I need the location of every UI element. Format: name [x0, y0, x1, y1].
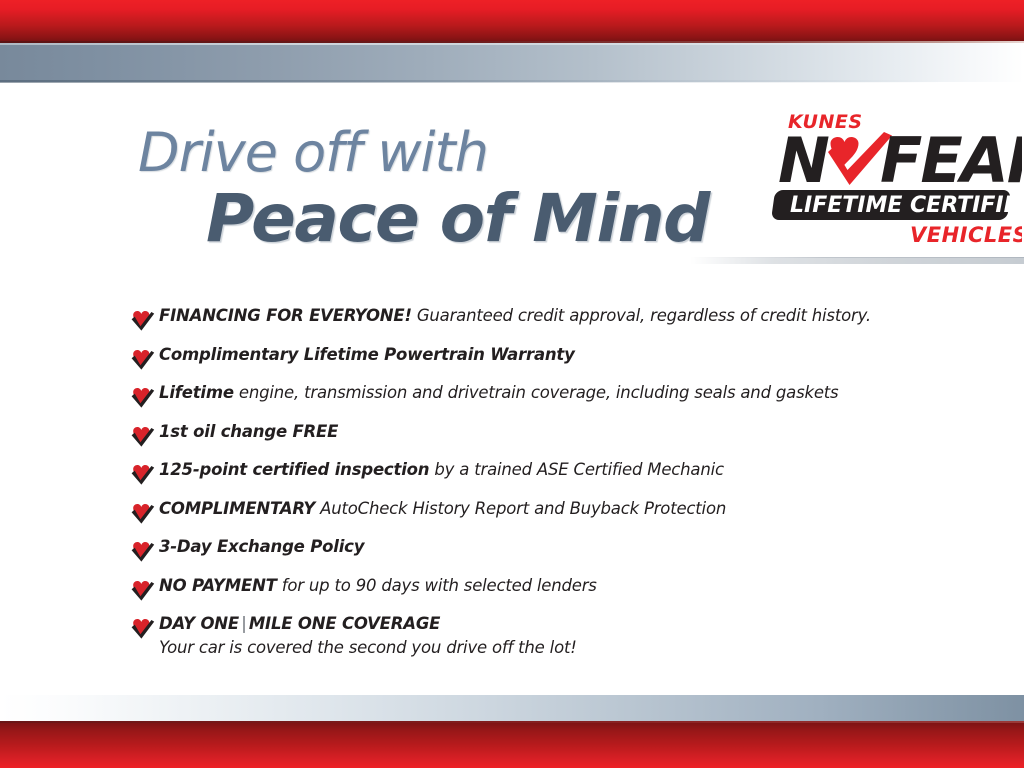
top-gray-band-shadow	[0, 80, 1024, 83]
list-item-text: 1st oil change FREE	[159, 422, 338, 441]
list-item-bold: Complimentary Lifetime Powertrain Warran…	[159, 345, 575, 364]
list-item: Lifetime engine, transmission and drivet…	[130, 383, 970, 408]
logo-letter-n: N	[778, 124, 829, 197]
list-item: FINANCING FOR EVERYONE! Guaranteed credi…	[130, 306, 970, 331]
list-item: Complimentary Lifetime Powertrain Warran…	[130, 345, 970, 370]
list-item-text: Complimentary Lifetime Powertrain Warran…	[159, 345, 575, 364]
list-item-group: DAY ONE|MILE ONE COVERAGE Your car is co…	[159, 614, 577, 659]
heart-check-icon	[130, 348, 155, 370]
list-item-subtext: Your car is covered the second you drive…	[159, 636, 577, 659]
heart-check-icon	[130, 617, 155, 639]
top-gray-band	[0, 43, 1024, 82]
logo-certified-text: LIFETIME CERTIFIED	[790, 193, 1022, 218]
list-item-text: 3-Day Exchange Policy	[159, 537, 364, 556]
heart-check-icon	[130, 425, 155, 447]
list-item-normal: for up to 90 days with selected lenders	[277, 576, 597, 595]
top-red-band	[0, 0, 1024, 41]
list-item: 1st oil change FREE	[130, 422, 970, 447]
list-item-bold: Lifetime	[159, 383, 234, 402]
list-item-normal: Guaranteed credit approval, regardless o…	[412, 306, 871, 325]
heart-check-icon	[130, 386, 155, 408]
list-item-bold: 1st oil change FREE	[159, 422, 338, 441]
list-item-text: Lifetime engine, transmission and drivet…	[159, 383, 838, 402]
list-item-bold-b: MILE ONE COVERAGE	[249, 614, 440, 633]
top-gray-band-highlight	[0, 43, 1024, 45]
list-item-bold: NO PAYMENT	[159, 576, 277, 595]
heart-check-icon	[130, 463, 155, 485]
heart-check-icon	[130, 502, 155, 524]
list-item-text: 125-point certified inspection by a trai…	[159, 460, 724, 479]
list-item-text: NO PAYMENT for up to 90 days with select…	[159, 576, 597, 595]
list-item-bold: FINANCING FOR EVERYONE!	[159, 306, 412, 325]
feature-list: FINANCING FOR EVERYONE! Guaranteed credi…	[130, 306, 970, 673]
header-divider	[690, 258, 1024, 264]
bottom-gray-band	[0, 695, 1024, 723]
heart-check-icon	[130, 540, 155, 562]
bottom-red-band	[0, 723, 1024, 768]
list-item-normal: AutoCheck History Report and Buyback Pro…	[315, 499, 726, 518]
list-item: DAY ONE|MILE ONE COVERAGE Your car is co…	[130, 614, 970, 659]
kunes-no-fear-logo: KUNES N FEAR LIFETIME CERTIFIED VEHICLES	[770, 106, 1022, 248]
list-item-bold: COMPLIMENTARY	[159, 499, 315, 518]
headline-line-1: Drive off with	[138, 126, 758, 180]
headline-line-2: Peace of Mind	[206, 186, 758, 252]
list-item-bold: 3-Day Exchange Policy	[159, 537, 364, 556]
logo-vehicles-text: VEHICLES	[910, 223, 1022, 247]
list-item-bold-a: DAY ONE	[159, 614, 239, 633]
heart-check-icon	[130, 309, 155, 331]
list-item-text: DAY ONE|MILE ONE COVERAGE	[159, 614, 440, 633]
list-item-bold: 125-point certified inspection	[159, 460, 429, 479]
headline-block: Drive off with Peace of Mind	[138, 126, 758, 252]
list-item: NO PAYMENT for up to 90 days with select…	[130, 576, 970, 601]
list-item: 3-Day Exchange Policy	[130, 537, 970, 562]
list-item-text: COMPLIMENTARY AutoCheck History Report a…	[159, 499, 726, 518]
logo-certified-bar: LIFETIME CERTIFIED	[771, 190, 1022, 220]
svg-text:N: N	[778, 124, 829, 197]
list-item-text: FINANCING FOR EVERYONE! Guaranteed credi…	[159, 306, 871, 325]
list-item-separator: |	[239, 614, 249, 633]
list-item: COMPLIMENTARY AutoCheck History Report a…	[130, 499, 970, 524]
promo-banner-page: Drive off with Peace of Mind KUNES N FEA…	[0, 0, 1024, 768]
list-item-normal: engine, transmission and drivetrain cove…	[234, 383, 839, 402]
heart-check-icon	[130, 579, 155, 601]
list-item: 125-point certified inspection by a trai…	[130, 460, 970, 485]
logo-fear-text: FEAR	[880, 124, 1022, 197]
list-item-normal: by a trained ASE Certified Mechanic	[429, 460, 724, 479]
